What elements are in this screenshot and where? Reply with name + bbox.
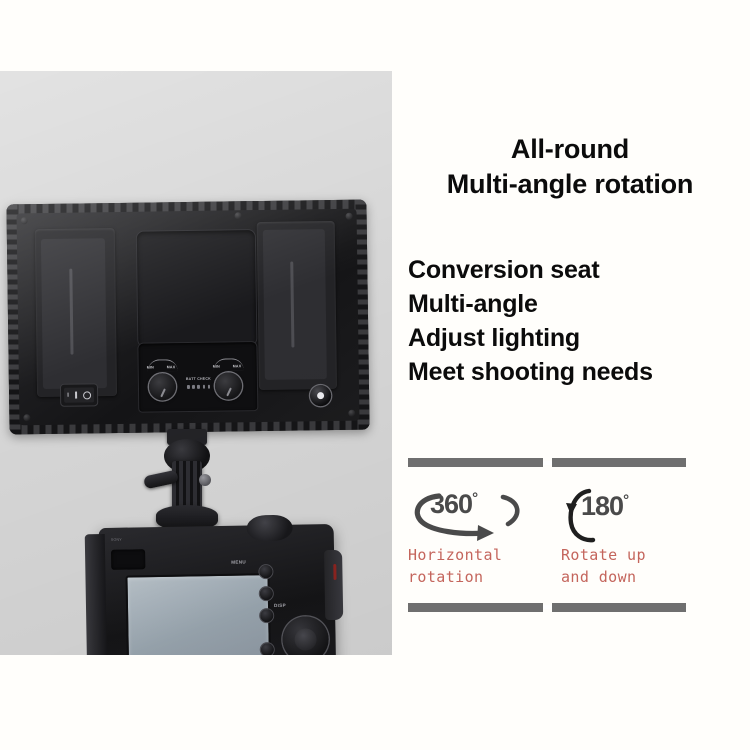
brightness-knob-left[interactable] (149, 373, 176, 400)
control-panel-plate: MIN MAX BATT CHECK MIN MAX (138, 342, 257, 412)
panel-screw (23, 414, 30, 421)
product-photo: MIN MAX BATT CHECK MIN MAX (0, 71, 392, 655)
divider-top (408, 458, 686, 467)
horizontal-rotation-arrow-icon: 360° (408, 483, 547, 545)
headline-line-2: Multi-angle rotation (400, 167, 740, 202)
panel-screw (235, 212, 242, 219)
knob-left-max-label: MAX (167, 365, 176, 369)
battery-bay-right (257, 221, 337, 390)
panel-center-recess (137, 230, 257, 347)
batt-check-led (203, 385, 206, 389)
camera-grip (324, 550, 343, 620)
knob-left-min-label: MIN (147, 365, 154, 369)
feature-copy: Conversion seat Multi-angle Adjust light… (408, 253, 748, 389)
rotation-spec-columns: 360° Horizontal rotation 180° Rotate (400, 483, 700, 589)
headline: All-round Multi-angle rotation (400, 132, 740, 201)
batt-check-led (208, 385, 211, 389)
spec-horizontal-rotation: 360° Horizontal rotation (400, 483, 547, 589)
mount-thumb-screw[interactable] (199, 474, 211, 486)
batt-check-led (187, 385, 190, 389)
camera-disp-label: DISP (274, 603, 286, 608)
camera-button (260, 587, 273, 600)
feature-copy-line-2: Multi-angle (408, 287, 748, 321)
battery-plate-left (41, 238, 107, 389)
feature-copy-line-4: Meet shooting needs (408, 355, 748, 389)
knob-right-max-label: MAX (233, 364, 242, 368)
camera-accent-stripe (333, 564, 336, 580)
knob-right-min-label: MIN (213, 365, 220, 369)
batt-check-label: BATT CHECK (186, 377, 211, 381)
mount-ribbed-hinge (172, 461, 202, 509)
divider-segment-left (408, 458, 543, 467)
camera-brand-text: SONY (111, 538, 122, 542)
divider-segment-right (552, 603, 687, 612)
spec-vertical-rotation: 180° Rotate up and down (547, 483, 700, 589)
camera-control-wheel (282, 616, 329, 655)
power-switch-rocker (75, 392, 77, 399)
vertical-rotation-caption: Rotate up and down (561, 545, 700, 589)
vertical-caption-line-2: and down (561, 567, 700, 589)
horizontal-caption-line-2: rotation (408, 567, 547, 589)
battery-bay-left (35, 228, 117, 397)
dc-power-jack (310, 385, 331, 406)
camera-button (261, 643, 274, 655)
vertical-caption-line-1: Rotate up (561, 545, 700, 567)
batt-check-led (192, 385, 195, 389)
camera-lcd-screen (125, 573, 271, 655)
divider-segment-left (408, 603, 543, 612)
camera-button (260, 609, 273, 622)
l-bracket (85, 534, 108, 655)
power-switch-off-icon (83, 391, 91, 399)
product-marketing-image: MIN MAX BATT CHECK MIN MAX (0, 0, 750, 750)
panel-screw (346, 213, 353, 220)
camera-menu-button-label: MENU (231, 559, 246, 564)
horizontal-degrees-value: 360° (430, 489, 478, 520)
mirrorless-camera: SONY MENU DISP Fn (99, 524, 337, 655)
vertical-rotation-arrow-icon: 180° (561, 483, 700, 545)
power-switch-inner: I (64, 387, 94, 402)
power-switch-on-label: I (67, 392, 69, 398)
headline-line-1: All-round (400, 132, 740, 167)
divider-segment-right (552, 458, 687, 467)
panel-screw (21, 217, 28, 224)
camera-mode-dial (246, 515, 292, 542)
camera-button (259, 565, 272, 578)
batt-check-led-row (187, 385, 210, 389)
battery-plate-right (263, 229, 327, 380)
rotation-spec-block: 360° Horizontal rotation 180° Rotate (400, 458, 700, 612)
led-light-panel: MIN MAX BATT CHECK MIN MAX (6, 199, 369, 434)
panel-screw (348, 410, 355, 417)
color-temp-knob-right[interactable] (215, 372, 242, 399)
articulating-mount (150, 429, 222, 539)
horizontal-caption-line-1: Horizontal (408, 545, 547, 567)
feature-copy-line-1: Conversion seat (408, 253, 748, 287)
vertical-degrees-value: 180° (581, 491, 629, 522)
batt-check-led (197, 385, 200, 389)
divider-bottom (408, 603, 686, 612)
divider-gap (543, 461, 552, 465)
panel-back-face: MIN MAX BATT CHECK MIN MAX (17, 209, 360, 426)
divider-gap (543, 605, 552, 609)
power-switch[interactable]: I (61, 384, 97, 406)
camera-viewfinder (111, 549, 145, 570)
horizontal-rotation-caption: Horizontal rotation (408, 545, 547, 589)
feature-copy-line-3: Adjust lighting (408, 321, 748, 355)
